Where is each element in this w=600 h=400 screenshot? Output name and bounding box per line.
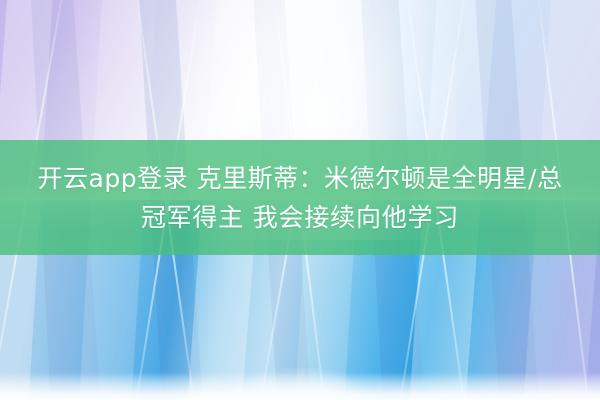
caption-band: 开云app登录 克里斯蒂：米德尔顿是全明星/总 冠军得主 我会接续向他学习: [0, 140, 600, 255]
caption-line-1: 开云app登录 克里斯蒂：米德尔顿是全明星/总: [38, 159, 563, 198]
banner-image: 开云app登录 克里斯蒂：米德尔顿是全明星/总 冠军得主 我会接续向他学习: [0, 0, 600, 400]
caption-line-2: 冠军得主 我会接续向他学习: [141, 198, 459, 237]
